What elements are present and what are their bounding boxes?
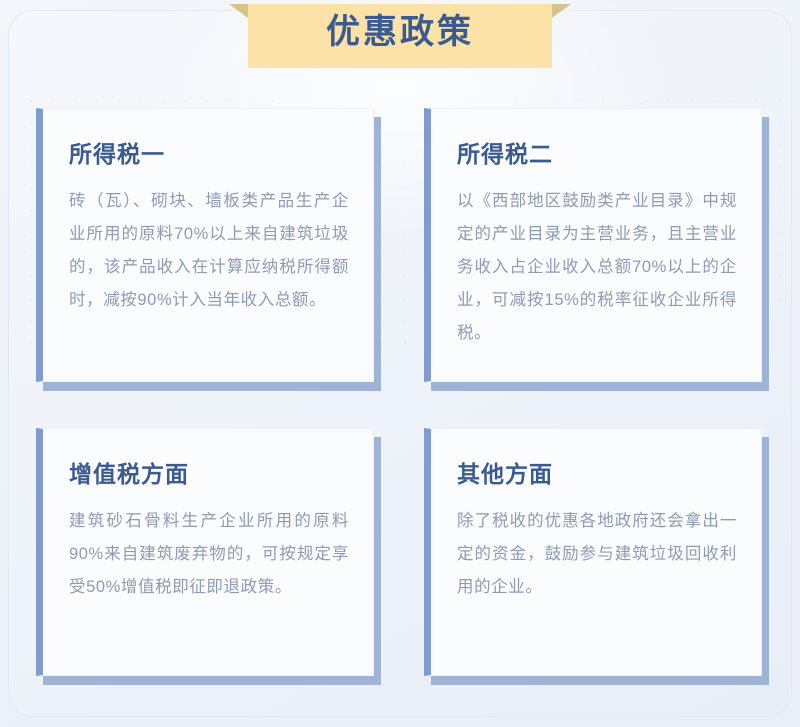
policy-card-title: 其他方面 [457,455,737,489]
policy-card-title: 增值税方面 [69,455,349,489]
page-title: 优惠政策 [248,4,552,60]
policy-card-content: 增值税方面 建筑砂石骨料生产企业所用的原料90%来自建筑废弃物的，可按规定享受5… [43,429,373,624]
policy-card-body: 砖（瓦）、砌块、墙板类产品生产企业所用的原料70%以上来自建筑垃圾的，该产品收入… [69,185,349,317]
ribbon-fold-left-icon [229,4,248,18]
policy-card-title: 所得税一 [69,135,349,169]
policy-card-title: 所得税二 [457,135,737,169]
policy-card: 所得税一 砖（瓦）、砌块、墙板类产品生产企业所用的原料70%以上来自建筑垃圾的，… [36,108,374,382]
policy-card: 所得税二 以《西部地区鼓励类产业目录》中规定的产业目录为主营业务，且主营业务收入… [424,108,762,382]
policy-card-body: 建筑砂石骨料生产企业所用的原料90%来自建筑废弃物的，可按规定享受50%增值税即… [69,505,349,604]
policy-card-content: 所得税二 以《西部地区鼓励类产业目录》中规定的产业目录为主营业务，且主营业务收入… [431,109,761,370]
policy-card: 其他方面 除了税收的优惠各地政府还会拿出一定的资金，鼓励参与建筑垃圾回收利用的企… [424,428,762,676]
policy-card-body: 除了税收的优惠各地政府还会拿出一定的资金，鼓励参与建筑垃圾回收利用的企业。 [457,505,737,604]
policy-card-body: 以《西部地区鼓励类产业目录》中规定的产业目录为主营业务，且主营业务收入占企业收入… [457,185,737,350]
policy-card-content: 其他方面 除了税收的优惠各地政府还会拿出一定的资金，鼓励参与建筑垃圾回收利用的企… [431,429,761,624]
policy-card-content: 所得税一 砖（瓦）、砌块、墙板类产品生产企业所用的原料70%以上来自建筑垃圾的，… [43,109,373,337]
policy-card: 增值税方面 建筑砂石骨料生产企业所用的原料90%来自建筑废弃物的，可按规定享受5… [36,428,374,676]
ribbon-fold-right-icon [552,4,571,18]
infographic-page: 优惠政策 所得税一 砖（瓦）、砌块、墙板类产品生产企业所用的原料70%以上来自建… [0,0,800,727]
title-banner: 优惠政策 [0,4,800,76]
